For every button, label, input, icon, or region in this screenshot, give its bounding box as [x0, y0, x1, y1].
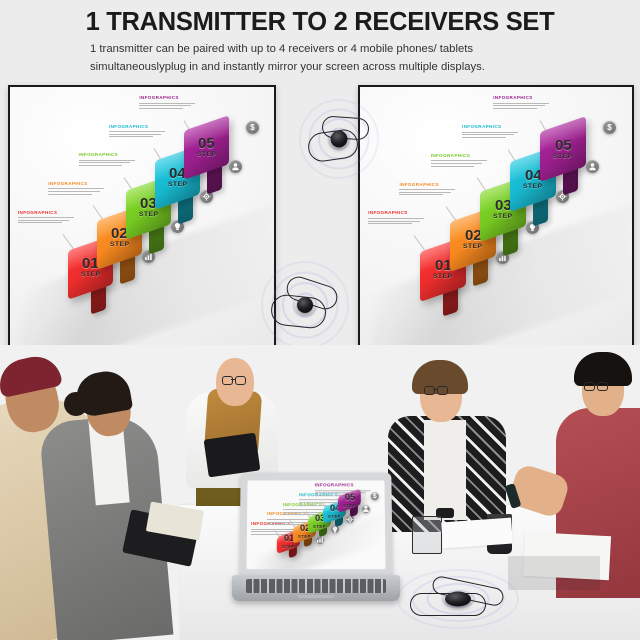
step-number: 04: [524, 167, 541, 182]
step-caption-title: INFOGRAPHICS: [79, 153, 135, 158]
step-caption-lines: [109, 131, 165, 137]
step-caption-lines: [462, 132, 518, 138]
step-caption-lines: [399, 189, 455, 195]
step-caption-lines: [79, 160, 135, 166]
laptop-base: [232, 575, 400, 601]
step-caption-lines: [18, 217, 74, 223]
dongle-body[interactable]: [445, 592, 471, 607]
laptop[interactable]: INFOGRAPHICS 01 STEP INFOGRAPHICS 02: [232, 472, 400, 607]
step-caption-title: INFOGRAPHICS: [368, 211, 424, 216]
step-number: 05: [554, 137, 571, 152]
step-leader-04: [153, 148, 160, 159]
step-number: 01: [435, 258, 452, 273]
step-sublabel: STEP: [523, 183, 543, 190]
step-caption-title: INFOGRAPHICS: [139, 96, 195, 101]
step-sublabel: STEP: [81, 272, 101, 279]
step-caption-05: INFOGRAPHICS: [139, 96, 195, 110]
infographic-left: INFOGRAPHICS 01 STEP INFOGRAPHICS 02: [10, 87, 274, 347]
step-card-05[interactable]: 05 STEP: [184, 116, 229, 181]
step-caption-05: INFOGRAPHICS: [493, 96, 549, 110]
panel-screen-left: INFOGRAPHICS 01 STEP INFOGRAPHICS 02: [10, 87, 274, 347]
step-caption-04: INFOGRAPHICS: [109, 125, 165, 139]
step-sublabel: STEP: [343, 504, 356, 508]
step-leader-02: [93, 206, 103, 220]
wireless-receiver-presenter[interactable]: [262, 262, 348, 348]
subtitle-line-1: 1 transmitter can be paired with up to 4…: [90, 40, 550, 58]
step-sublabel: STEP: [139, 213, 159, 220]
papers: [441, 518, 513, 549]
header: 1 TRANSMITTER TO 2 RECEIVERS SET 1 trans…: [0, 0, 640, 82]
step-sublabel: STEP: [493, 214, 513, 221]
step-leader-02: [445, 206, 455, 220]
step-caption-title: INFOGRAPHICS: [493, 96, 549, 101]
step-sublabel: STEP: [168, 183, 188, 190]
user-icon[interactable]: [229, 160, 242, 173]
step-caption-02: INFOGRAPHICS: [399, 183, 455, 197]
step-caption-title: INFOGRAPHICS: [18, 211, 74, 216]
infographic-right: INFOGRAPHICS 01 STEP INFOGRAPHICS 02: [360, 87, 632, 349]
step-caption-title: INFOGRAPHICS: [48, 182, 104, 187]
svg-text:$: $: [372, 491, 376, 500]
step-caption-title: INFOGRAPHICS: [462, 125, 518, 130]
step-number: 02: [465, 228, 482, 243]
dongle-body[interactable]: [297, 297, 313, 313]
page-subtitle: 1 transmitter can be paired with up to 4…: [90, 40, 550, 76]
step-leader-04: [508, 149, 516, 160]
step-caption-03: INFOGRAPHICS: [431, 154, 487, 168]
display-panel-left: INFOGRAPHICS 01 STEP INFOGRAPHICS 02: [8, 85, 276, 349]
step-caption-title: INFOGRAPHICS: [399, 183, 455, 188]
step-leader-03: [477, 178, 486, 191]
svg-text:$: $: [608, 123, 613, 132]
step-face: 05 STEP: [184, 116, 229, 181]
wireless-transmitter-top[interactable]: [300, 100, 378, 178]
step-caption-title: INFOGRAPHICS: [315, 483, 371, 488]
step-caption-lines: [431, 160, 487, 166]
step-face: 05 STEP: [540, 116, 586, 182]
step-sublabel: STEP: [282, 545, 295, 549]
step-sublabel: STEP: [110, 242, 130, 249]
laptop-screen: INFOGRAPHICS 01 STEP INFOGRAPHICS 02: [246, 480, 385, 569]
laptop-keyboard[interactable]: [246, 579, 386, 593]
wireless-receiver-desk[interactable]: [398, 568, 518, 630]
step-caption-lines: [139, 103, 195, 109]
step-leader-03: [123, 177, 132, 189]
step-number: 03: [494, 198, 511, 213]
step-sublabel: STEP: [197, 153, 217, 160]
dollar-icon[interactable]: $: [370, 492, 378, 500]
step-number: 05: [344, 494, 354, 503]
step-leader-01: [62, 234, 73, 249]
step-sublabel: STEP: [313, 524, 326, 528]
step-caption-02: INFOGRAPHICS: [48, 182, 104, 196]
step-number: 05: [198, 137, 215, 152]
user-icon[interactable]: [586, 160, 599, 173]
panel-screen-right: INFOGRAPHICS 01 STEP INFOGRAPHICS 02: [360, 87, 632, 349]
pen-holder: [412, 516, 442, 554]
step-card-05[interactable]: 05 STEP: [540, 116, 586, 182]
subtitle-line-2: simultaneouslyplug in and instantly mirr…: [90, 58, 550, 76]
step-sublabel: STEP: [298, 535, 311, 539]
step-sublabel: STEP: [328, 514, 341, 518]
step-caption-01: INFOGRAPHICS: [18, 211, 74, 225]
step-sublabel: STEP: [433, 274, 453, 281]
chart-bar-icon[interactable]: [316, 536, 324, 544]
step-leader-05: [539, 120, 545, 130]
dollar-icon[interactable]: $: [246, 121, 259, 134]
dongle-body[interactable]: [331, 131, 348, 148]
infographic-laptop: INFOGRAPHICS 01 STEP INFOGRAPHICS 02: [246, 480, 385, 569]
dollar-icon[interactable]: $: [603, 121, 616, 134]
page-title: 1 TRANSMITTER TO 2 RECEIVERS SET: [0, 8, 640, 37]
step-sublabel: STEP: [553, 153, 573, 160]
step-caption-01: INFOGRAPHICS: [368, 211, 424, 225]
step-caption-title: INFOGRAPHICS: [109, 125, 165, 130]
user-icon[interactable]: [361, 505, 369, 513]
step-caption-03: INFOGRAPHICS: [79, 153, 135, 167]
display-panel-right: INFOGRAPHICS 01 STEP INFOGRAPHICS 02: [358, 85, 634, 351]
step-caption-lines: [368, 218, 424, 224]
notebook: [508, 556, 600, 590]
step-sublabel: STEP: [463, 244, 483, 251]
svg-text:$: $: [251, 123, 256, 132]
step-caption-title: INFOGRAPHICS: [431, 154, 487, 159]
step-caption-lines: [48, 188, 104, 194]
step-caption-lines: [493, 103, 549, 109]
poster-stage: 1 TRANSMITTER TO 2 RECEIVERS SET 1 trans…: [0, 0, 640, 640]
laptop-trackpad[interactable]: [298, 595, 334, 598]
step-caption-04: INFOGRAPHICS: [462, 125, 518, 139]
step-leader-01: [414, 235, 426, 251]
laptop-lid: INFOGRAPHICS 01 STEP INFOGRAPHICS 02: [239, 473, 392, 578]
